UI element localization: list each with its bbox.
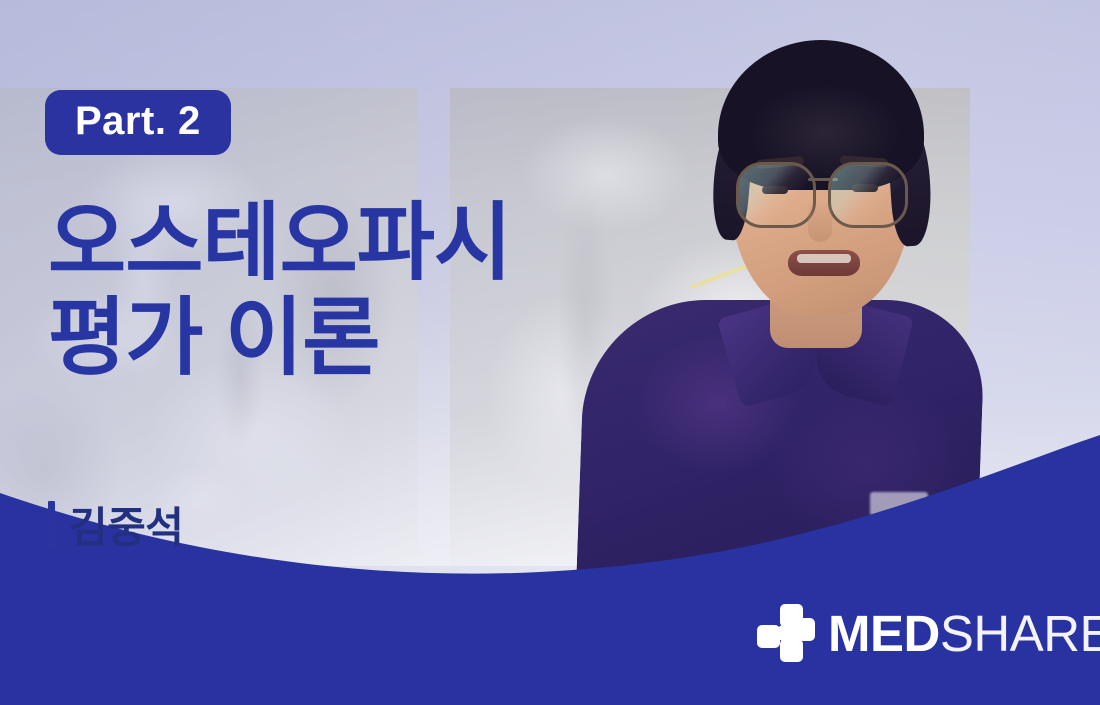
glasses-lens-left [736,162,816,228]
medshare-logo: MEDSHARE [757,604,1100,662]
glasses-lens-right [828,162,908,228]
page-title: 오스테오파시 평가 이론 [48,196,688,386]
title-line-2: 평가 이론 [48,291,688,386]
cross-square-left [757,625,780,648]
speaker-credit: 김중석 [48,494,183,555]
part-badge: Part. 2 [45,90,231,155]
presenter-teeth [797,254,851,263]
presenter-nose [808,200,832,242]
medical-cross-icon [757,604,815,662]
speaker-name: 김중석 [69,494,183,555]
brand-name-light: SHARE [940,605,1100,662]
course-thumbnail-slide: Part. 2 오스테오파시 평가 이론 김중석 MEDSHARE [0,0,1100,705]
title-line-1: 오스테오파시 [48,196,688,291]
cross-square-right [792,618,815,641]
brand-wordmark: MEDSHARE [828,608,1100,659]
cross-square-bottom [780,639,803,662]
brand-name-bold: MED [828,605,940,662]
vertical-bar-icon [48,501,55,549]
presenter-mouth [788,250,860,276]
